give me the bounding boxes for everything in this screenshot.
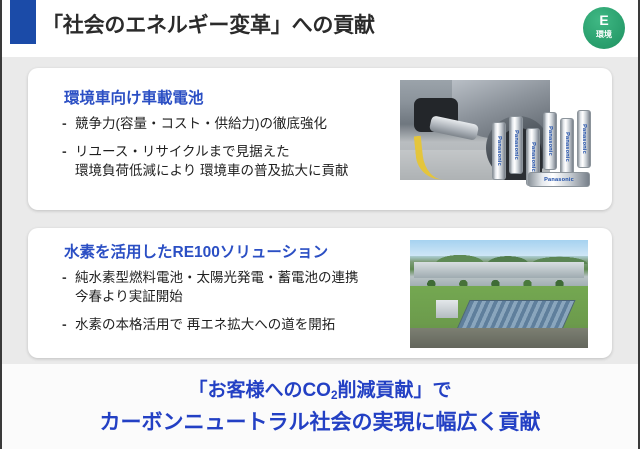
cell-brand-label: Panasonic	[544, 177, 574, 183]
cell-brand-label: Panasonic	[530, 142, 536, 172]
slide: 「社会のエネルギー変革」への貢献 E 環境 環境車向け車載電池 - 競争力(容量…	[0, 0, 640, 449]
bullet-dash-icon: -	[62, 142, 75, 161]
battery-cell: Panasonic	[577, 110, 591, 168]
co2-subscript: 2	[331, 389, 338, 402]
bullet-dash-icon: -	[62, 315, 75, 334]
page-title: 「社会のエネルギー変革」への貢献	[42, 9, 375, 39]
bullet-dash-icon: -	[62, 114, 75, 133]
card-heading: 水素を活用したRE100ソリューション	[64, 240, 328, 262]
banner-line-1: 「お客様へのCO2削減貢献」で	[2, 375, 638, 402]
list-item: - リユース・リサイクルまで見据えた 環境負荷低減により 環境車の普及拡大に貢献	[62, 142, 348, 180]
list-item-text: 純水素型燃料電池・太陽光発電・蓄電池の連携 今春より実証開始	[75, 268, 359, 306]
battery-cell: Panasonic	[543, 112, 557, 170]
environment-badge: E 環境	[583, 7, 625, 49]
banner-line-1-before: 「お客様へのCO	[188, 380, 331, 401]
list-item: - 純水素型燃料電池・太陽光発電・蓄電池の連携 今春より実証開始	[62, 268, 359, 306]
cell-brand-label: Panasonic	[564, 132, 570, 162]
bullet-list: - 競争力(容量・コスト・供給力)の徹底強化 - リユース・リサイクルまで見据え…	[62, 114, 348, 189]
bullet-list: - 純水素型燃料電池・太陽光発電・蓄電池の連携 今春より実証開始 - 水素の本格…	[62, 268, 359, 343]
cell-brand-label: Panasonic	[581, 124, 587, 154]
header-accent-bar	[10, 0, 36, 44]
battery-cell: Panasonic	[528, 172, 590, 187]
battery-cell: Panasonic	[560, 118, 574, 176]
badge-label: 環境	[583, 29, 625, 40]
badge-letter: E	[583, 13, 625, 27]
bullet-dash-icon: -	[62, 268, 75, 287]
photo-railway	[410, 328, 588, 348]
summary-banner: 「お客様へのCO2削減貢献」で カーボンニュートラル社会の実現に幅広く貢献	[2, 364, 638, 449]
list-item-text: 水素の本格活用で 再エネ拡大への道を開拓	[75, 315, 335, 334]
battery-cell: Panasonic	[509, 116, 523, 174]
photo-shed	[436, 300, 458, 318]
photo-factory	[414, 262, 584, 278]
list-item-text: リユース・リサイクルまで見据えた 環境負荷低減により 環境車の普及拡大に貢献	[75, 142, 348, 180]
list-item-text: 競争力(容量・コスト・供給力)の徹底強化	[75, 114, 327, 133]
cell-brand-label: Panasonic	[547, 126, 553, 156]
battery-cells-group: Panasonic Panasonic Panasonic Panasonic …	[492, 106, 608, 192]
cell-brand-label: Panasonic	[513, 130, 519, 160]
solar-facility-photo	[410, 240, 588, 348]
slide-header: 「社会のエネルギー変革」への貢献 E 環境	[2, 0, 638, 57]
cell-brand-label: Panasonic	[496, 136, 502, 166]
list-item: - 水素の本格活用で 再エネ拡大への道を開拓	[62, 315, 359, 334]
banner-line-1-after: 削減貢献」で	[338, 380, 452, 401]
battery-cell: Panasonic	[492, 122, 506, 180]
card-heading: 環境車向け車載電池	[64, 86, 204, 108]
list-item: - 競争力(容量・コスト・供給力)の徹底強化	[62, 114, 348, 133]
banner-line-2: カーボンニュートラル社会の実現に幅広く貢献	[2, 406, 638, 436]
